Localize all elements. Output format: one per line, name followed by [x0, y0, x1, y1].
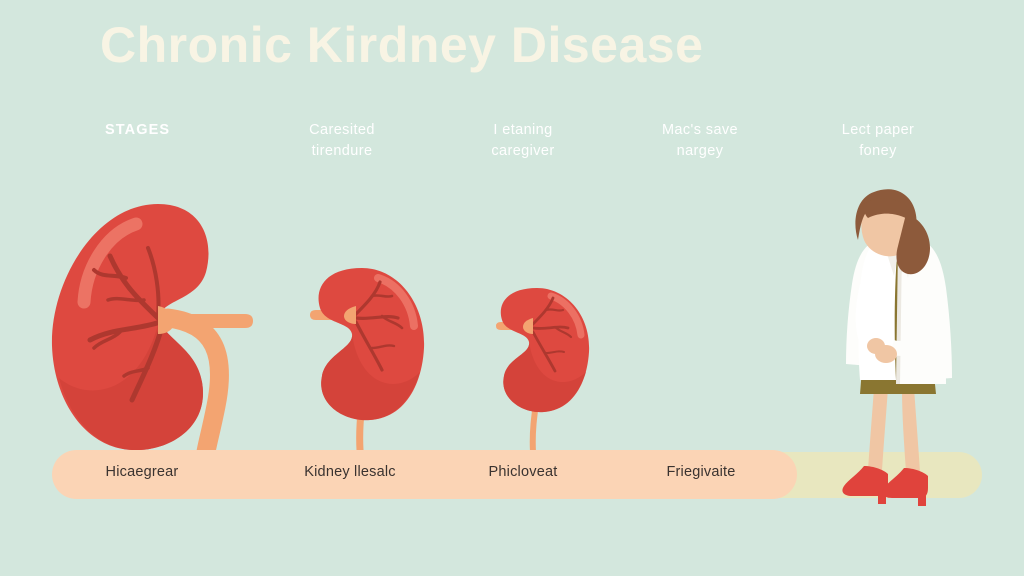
- timeline-label-1[interactable]: Hicaegrear: [62, 464, 222, 480]
- shoe-icon: [842, 466, 928, 506]
- column-header-line2: foney: [798, 141, 958, 162]
- column-header-line1: Mac's save: [662, 122, 738, 138]
- column-header-line1: Lect paper: [842, 122, 915, 138]
- column-header-line2: caregiver: [443, 141, 603, 162]
- column-header-line2: nargey: [620, 141, 780, 162]
- column-header-caresited-tirendure: Caresited tirendure: [262, 120, 422, 162]
- column-header-stages: STAGES: [105, 120, 275, 141]
- legs: [868, 388, 920, 472]
- column-header-i-etaning-caregiver: I etaning caregiver: [443, 120, 603, 162]
- column-header-line1: I etaning: [493, 122, 552, 138]
- page-title: Chronic Kirdney Disease: [100, 18, 860, 73]
- column-header-line2: tirendure: [262, 141, 422, 162]
- column-header-macs-save-nargey: Mac's save nargey: [620, 120, 780, 162]
- timeline-label-2[interactable]: Kidney llesalc: [270, 464, 430, 480]
- column-header-line1: Caresited: [309, 122, 375, 138]
- kidney-small-illustration: [487, 284, 627, 464]
- kidney-large-illustration: [40, 196, 270, 456]
- doctor-figure-illustration: [818, 188, 988, 508]
- poster-canvas: Chronic Kirdney Disease STAGES Caresited…: [0, 0, 1024, 576]
- kidney-medium-illustration: [300, 264, 460, 464]
- timeline-label-3[interactable]: Phicloveat: [443, 464, 603, 480]
- column-header-lect-paper-foney: Lect paper foney: [798, 120, 958, 162]
- column-header-line1: STAGES: [105, 122, 170, 138]
- timeline-label-4[interactable]: Friegivaite: [621, 464, 781, 480]
